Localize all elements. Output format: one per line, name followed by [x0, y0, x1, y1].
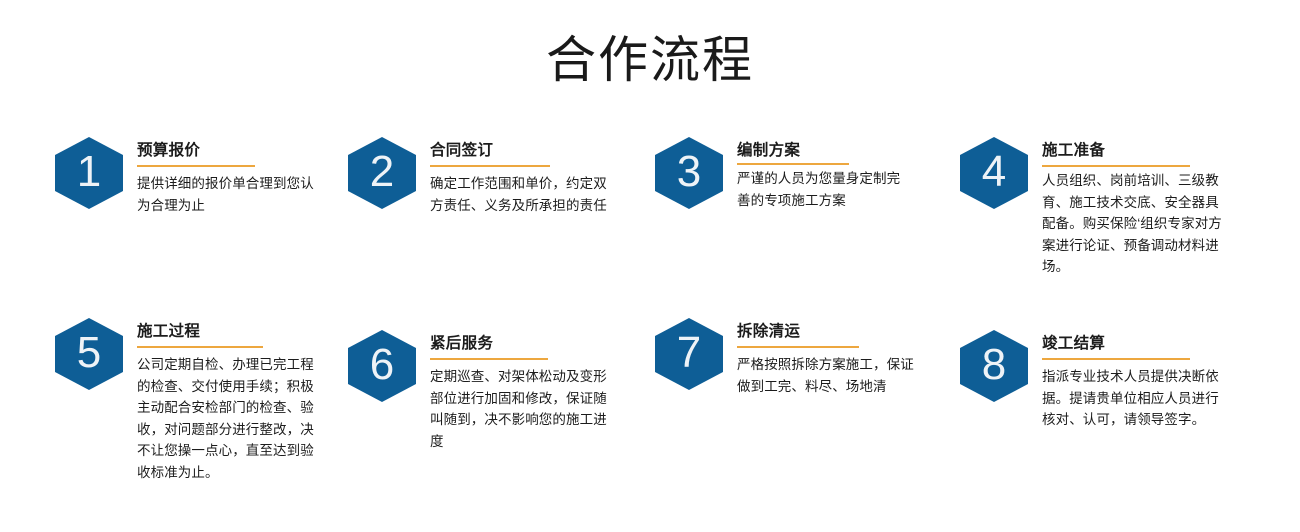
step-title: 拆除清运: [737, 322, 923, 342]
step-content-5: 施工过程 公司定期自检、办理已完工程的检查、交付使用手续；积极主动配合安检部门的…: [123, 318, 317, 483]
step-number-label: 1: [77, 150, 101, 196]
step-content-3: 编制方案 严谨的人员为您量身定制完善的专项施工方案: [723, 137, 905, 211]
step-title: 编制方案: [737, 141, 905, 161]
step-title: 预算报价: [137, 141, 317, 161]
process-step-2: 2 合同签订 确定工作范围和单价，约定双方责任、义务及所承担的责任: [348, 137, 610, 216]
process-step-7: 7 拆除清运 严格按照拆除方案施工，保证做到工完、料尽、场地清: [655, 318, 923, 397]
step-title-underline: [1042, 358, 1190, 360]
step-title-underline: [737, 346, 859, 348]
step-title-underline: [430, 358, 548, 360]
cooperation-process-infographic: 合作流程 1 预算报价 提供详细的报价单合理到您认为合理为止 2 合同签订 确定…: [0, 0, 1300, 532]
step-title-underline: [737, 163, 849, 165]
step-number-hexagon-3: 3: [655, 137, 723, 209]
process-step-8: 8 竣工结算 指派专业技术人员提供决断依据。提请贵单位相应人员进行核对、认可，请…: [960, 330, 1232, 431]
step-number-hexagon-5: 5: [55, 318, 123, 390]
step-title-underline: [1042, 165, 1190, 167]
step-title: 施工过程: [137, 322, 317, 342]
step-content-4: 施工准备 人员组织、岗前培训、三级教育、施工技术交底、安全器具配备。购买保险‘组…: [1028, 137, 1228, 278]
step-number-label: 5: [77, 331, 101, 377]
process-step-1: 1 预算报价 提供详细的报价单合理到您认为合理为止: [55, 137, 317, 216]
process-step-3: 3 编制方案 严谨的人员为您量身定制完善的专项施工方案: [655, 137, 905, 211]
step-number-hexagon-6: 6: [348, 330, 416, 402]
step-description: 严谨的人员为您量身定制完善的专项施工方案: [737, 168, 905, 211]
page-title: 合作流程: [0, 28, 1300, 92]
step-description: 提供详细的报价单合理到您认为合理为止: [137, 173, 317, 216]
step-number-label: 4: [982, 150, 1006, 196]
step-number-hexagon-2: 2: [348, 137, 416, 209]
step-content-7: 拆除清运 严格按照拆除方案施工，保证做到工完、料尽、场地清: [723, 318, 923, 397]
step-description: 严格按照拆除方案施工，保证做到工完、料尽、场地清: [737, 354, 923, 397]
step-number-label: 3: [677, 150, 701, 196]
step-content-1: 预算报价 提供详细的报价单合理到您认为合理为止: [123, 137, 317, 216]
step-number-hexagon-8: 8: [960, 330, 1028, 402]
step-content-6: 紧后服务 定期巡查、对架体松动及变形部位进行加固和修改，保证随叫随到，决不影响您…: [416, 330, 618, 452]
step-description: 公司定期自检、办理已完工程的检查、交付使用手续；积极主动配合安检部门的检查、验收…: [137, 354, 317, 483]
step-number-label: 8: [982, 343, 1006, 389]
step-title-underline: [137, 165, 255, 167]
process-step-6: 6 紧后服务 定期巡查、对架体松动及变形部位进行加固和修改，保证随叫随到，决不影…: [348, 330, 618, 452]
step-description: 人员组织、岗前培训、三级教育、施工技术交底、安全器具配备。购买保险‘组织专家对方…: [1042, 170, 1228, 278]
step-title: 施工准备: [1042, 141, 1228, 161]
step-title: 紧后服务: [430, 334, 618, 354]
step-number-hexagon-7: 7: [655, 318, 723, 390]
step-number-hexagon-4: 4: [960, 137, 1028, 209]
step-description: 定期巡查、对架体松动及变形部位进行加固和修改，保证随叫随到，决不影响您的施工进度: [430, 366, 618, 452]
step-number-label: 7: [677, 331, 701, 377]
step-title: 竣工结算: [1042, 334, 1232, 354]
step-number-label: 2: [370, 150, 394, 196]
step-title-underline: [430, 165, 550, 167]
step-description: 指派专业技术人员提供决断依据。提请贵单位相应人员进行核对、认可，请领导签字。: [1042, 366, 1232, 431]
step-content-8: 竣工结算 指派专业技术人员提供决断依据。提请贵单位相应人员进行核对、认可，请领导…: [1028, 330, 1232, 431]
step-description: 确定工作范围和单价，约定双方责任、义务及所承担的责任: [430, 173, 610, 216]
step-number-label: 6: [370, 343, 394, 389]
process-step-4: 4 施工准备 人员组织、岗前培训、三级教育、施工技术交底、安全器具配备。购买保险…: [960, 137, 1228, 278]
process-step-5: 5 施工过程 公司定期自检、办理已完工程的检查、交付使用手续；积极主动配合安检部…: [55, 318, 317, 483]
step-title-underline: [137, 346, 263, 348]
step-number-hexagon-1: 1: [55, 137, 123, 209]
step-content-2: 合同签订 确定工作范围和单价，约定双方责任、义务及所承担的责任: [416, 137, 610, 216]
step-title: 合同签订: [430, 141, 610, 161]
